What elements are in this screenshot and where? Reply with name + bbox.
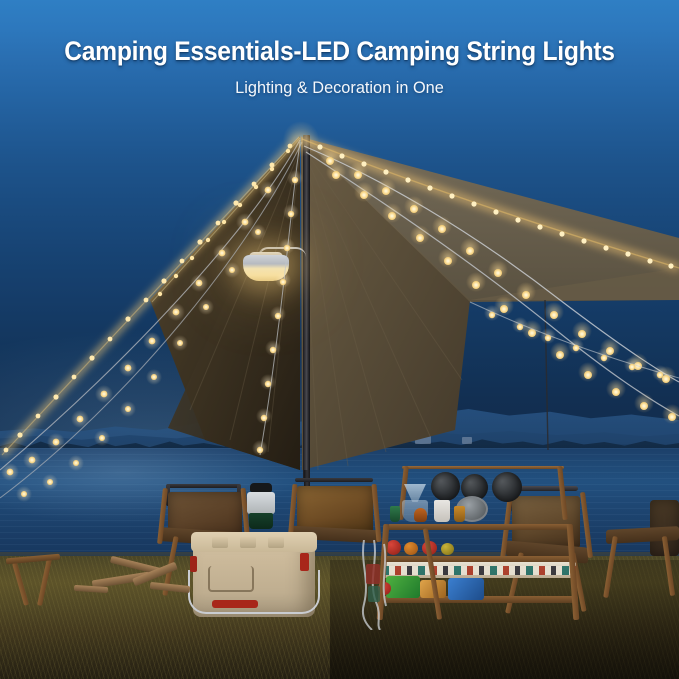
condiment-jar: [454, 506, 465, 522]
chair-backrest: [297, 486, 373, 532]
center-support-pole: [303, 135, 310, 480]
far-shore-building: [415, 435, 431, 444]
lantern-globe: [247, 492, 275, 514]
fruit: [441, 543, 454, 555]
hanging-pan: [431, 472, 460, 501]
lantern-top: [250, 483, 272, 492]
snack-bag-blue: [448, 578, 484, 600]
pan-hanging-rail: [402, 466, 564, 469]
white-pitcher: [434, 500, 450, 522]
cooler-handle-pad: [212, 600, 258, 608]
green-camping-lantern: [246, 483, 276, 529]
blanket-pattern: [382, 566, 576, 575]
cooler-latch: [212, 537, 228, 548]
cooler-latch: [240, 537, 256, 548]
chair-top-bar: [295, 478, 373, 482]
product-lifestyle-image: Camping Essentials-LED Camping String Li…: [0, 0, 679, 679]
chair-top-bar: [168, 484, 240, 488]
lantern-base: [249, 513, 273, 529]
shelf-board-top: [388, 524, 570, 530]
sky-horizon-glow: [0, 0, 679, 470]
hanging-led-lantern: [243, 255, 289, 281]
hanging-pan: [492, 472, 522, 502]
cooler-accent-right: [300, 553, 309, 571]
drink-glass: [414, 508, 427, 522]
hanging-rope-decor: [350, 540, 410, 630]
far-shore-building: [462, 437, 472, 444]
condiment-jar: [390, 506, 400, 522]
cooler-latch: [268, 537, 284, 548]
